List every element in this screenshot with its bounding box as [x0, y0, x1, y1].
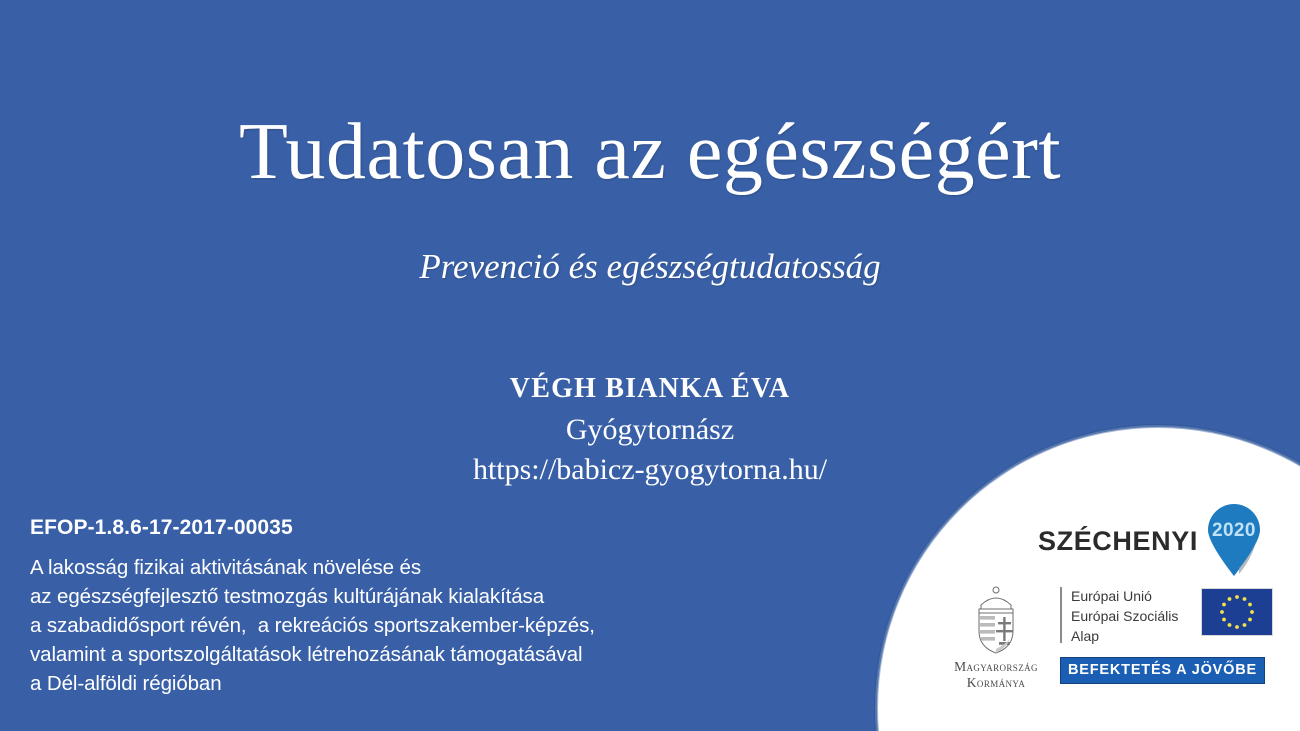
author-website-link[interactable]: https://babicz-gyogytorna.hu/ [0, 450, 1300, 489]
vertical-divider [1060, 587, 1062, 643]
project-info-block: EFOP-1.8.6-17-2017-00035 A lakosság fizi… [30, 516, 710, 699]
map-pin-icon: 2020 [1206, 504, 1262, 578]
presentation-title-slide: Tudatosan az egészségért Prevenció és eg… [0, 0, 1300, 731]
page-subtitle: Prevenció és egészségtudatosság [0, 247, 1300, 287]
eu-logo-block: Európai Unió Európai Szociális Alap [1060, 585, 1273, 684]
investing-in-future-banner: BEFEKTETÉS A JÖVŐBE [1060, 657, 1265, 684]
eu-flag-stars [1202, 589, 1272, 635]
page-title: Tudatosan az egészségért [0, 110, 1300, 194]
funding-logo-row: Magyarország Kormánya Európai Unió Európ… [940, 585, 1273, 691]
author-role: Gyógytornász [0, 410, 1300, 449]
project-description-line: az egészségfejlesztő testmozgás kultúráj… [30, 582, 710, 611]
government-caption: Magyarország Kormánya [954, 659, 1038, 691]
szechenyi-2020-logo: SZÉCHENYI 2020 [1038, 504, 1262, 578]
government-caption-line1: Magyarország [954, 659, 1038, 675]
szechenyi-pin-year: 2020 [1206, 520, 1262, 542]
author-name: VÉGH BIANKA ÉVA [0, 370, 1300, 408]
eu-flag-icon [1201, 588, 1273, 636]
eu-logo-top-row: Európai Unió Európai Szociális Alap [1060, 585, 1273, 647]
project-description-line: valamint a sportszolgáltatások létrehozá… [30, 640, 710, 669]
hungarian-coat-of-arms-icon [966, 585, 1026, 655]
project-code: EFOP-1.8.6-17-2017-00035 [30, 516, 710, 540]
project-description-line: A lakosság fizikai aktivitásának növelés… [30, 553, 710, 582]
project-description-line: a szabadidősport révén, a rekreációs spo… [30, 611, 710, 640]
project-description: A lakosság fizikai aktivitásának növelés… [30, 553, 710, 699]
government-caption-line2: Kormánya [954, 675, 1038, 691]
project-description-line: a Dél-alföldi régióban [30, 669, 710, 698]
szechenyi-wordmark: SZÉCHENYI [1038, 526, 1198, 557]
eu-fund-text: Európai Unió Európai Szociális Alap [1071, 585, 1195, 647]
author-block: VÉGH BIANKA ÉVA Gyógytornász https://bab… [0, 370, 1300, 489]
government-logo: Magyarország Kormánya [940, 585, 1052, 691]
